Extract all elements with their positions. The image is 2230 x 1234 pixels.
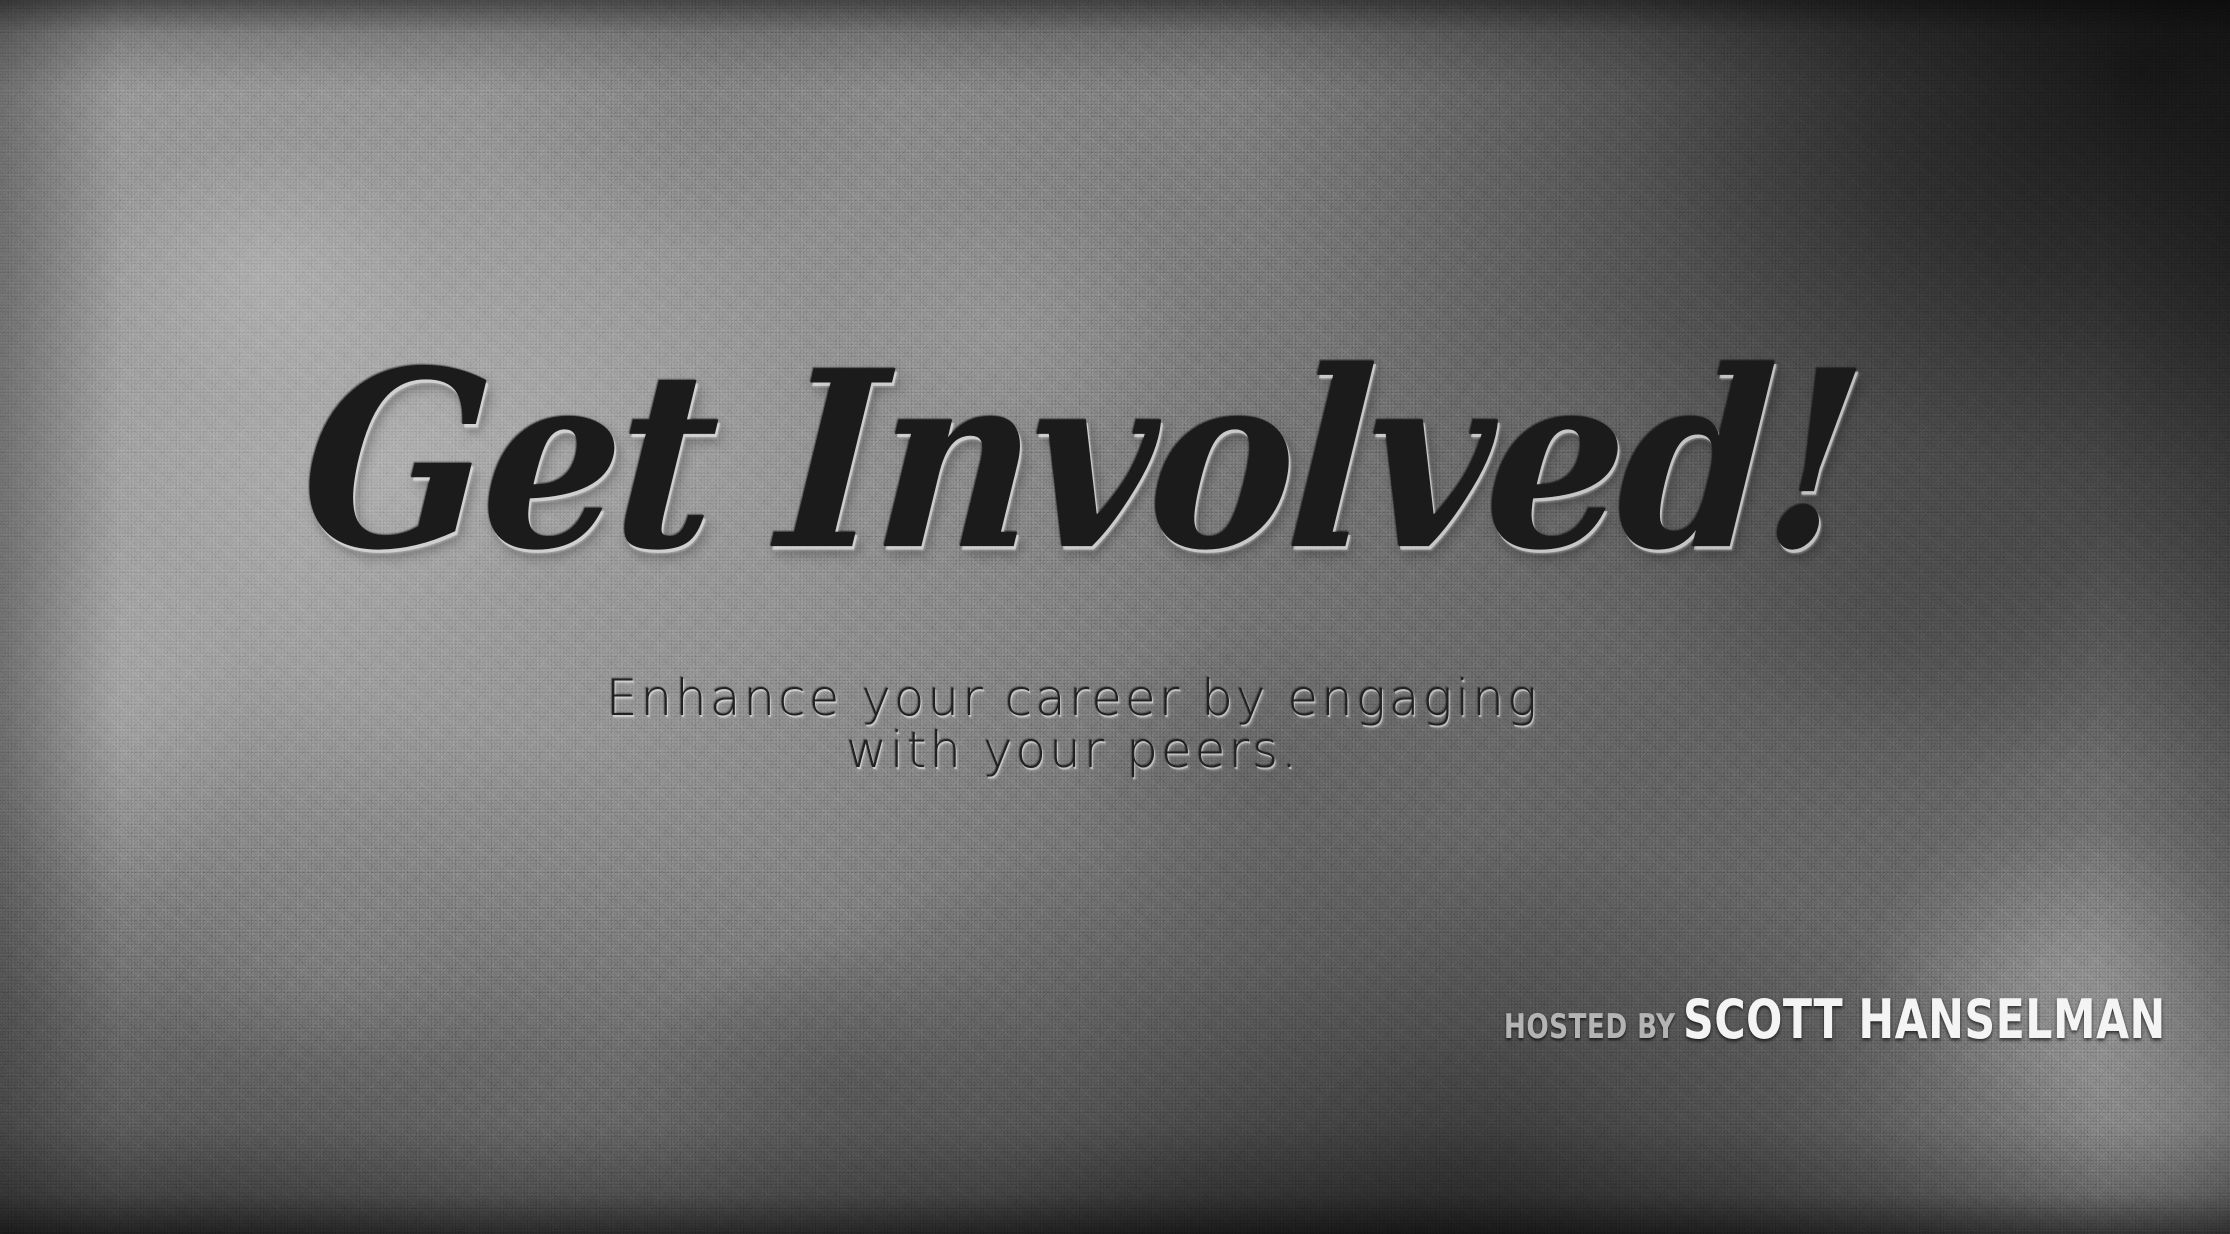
slide-content: Get Involved! Enhance your career by eng… bbox=[0, 0, 2230, 1234]
subtitle-line-1: Enhance your career by engaging bbox=[0, 672, 2146, 724]
subtitle-line-2: with your peers. bbox=[0, 724, 2146, 776]
slide-title: Get Involved! bbox=[295, 339, 1864, 583]
host-credit: HOSTED BYSCOTT HANSELMAN bbox=[0, 988, 2230, 1051]
host-credit-prefix: HOSTED BY bbox=[1504, 1007, 1676, 1047]
title-slide: Get Involved! Enhance your career by eng… bbox=[0, 0, 2230, 1234]
title-container: Get Involved! bbox=[0, 352, 2160, 570]
host-credit-name: SCOTT HANSELMAN bbox=[1683, 988, 2166, 1051]
subtitle-container: Enhance your career by engaging with you… bbox=[0, 672, 2146, 776]
